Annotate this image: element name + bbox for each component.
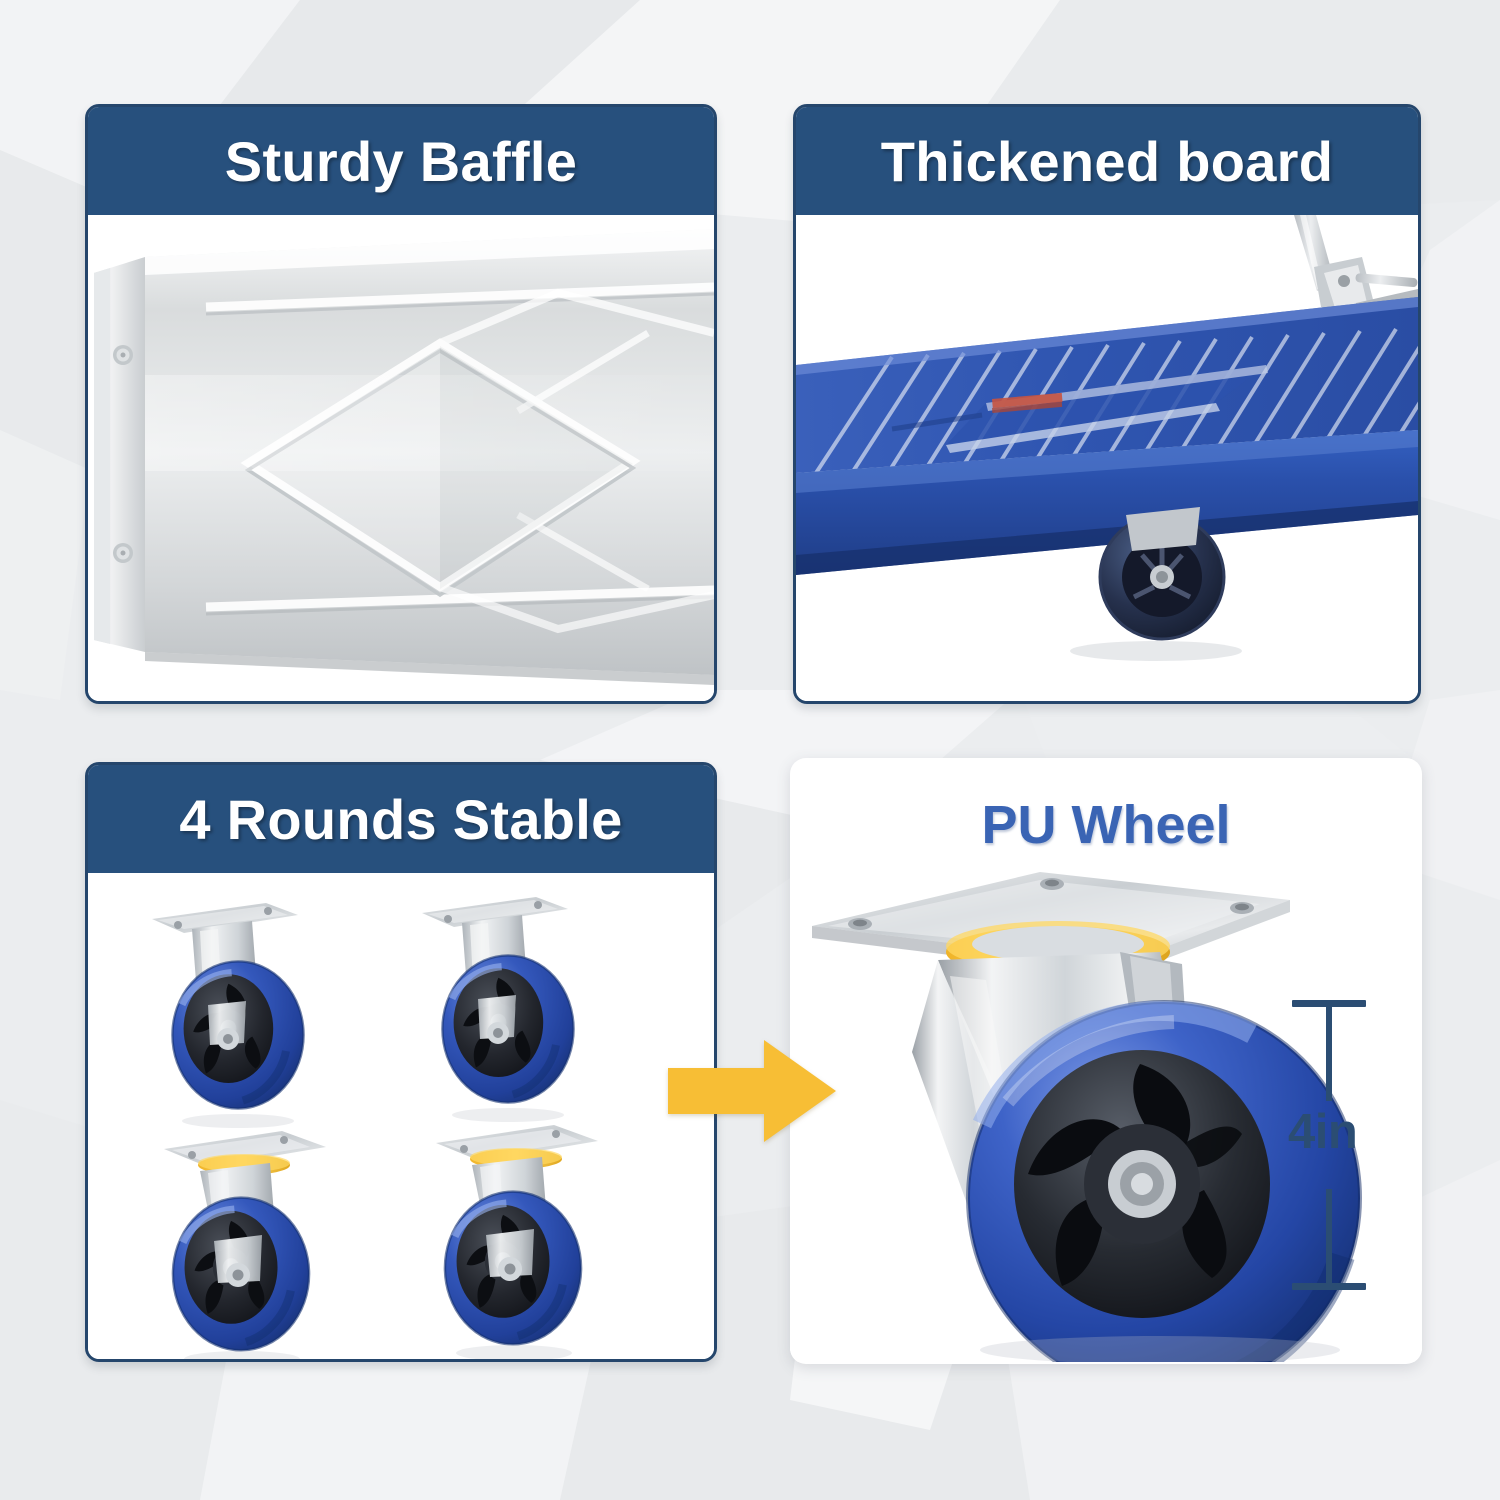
- photo-thickened-board: [796, 215, 1418, 701]
- dimension-label: 4in: [1288, 1108, 1357, 1157]
- baffle-illustration: [88, 215, 714, 701]
- panel-sturdy-baffle: Sturdy Baffle: [85, 104, 717, 704]
- four-casters-illustration: [88, 873, 714, 1359]
- yellow-right-arrow: [668, 1032, 838, 1150]
- panel-title-thickened-board: Thickened board: [881, 129, 1334, 194]
- arrow-shape: [668, 1040, 836, 1142]
- panel-title-sturdy-baffle: Sturdy Baffle: [225, 129, 577, 194]
- panel-thickened-board: Thickened board: [793, 104, 1421, 704]
- dimension-marker-4in: 4in: [1292, 1000, 1412, 1290]
- panel-header-thickened-board: Thickened board: [796, 107, 1418, 215]
- deck-illustration: [796, 215, 1418, 701]
- panel-header-four-rounds-stable: 4 Rounds Stable: [88, 765, 714, 873]
- panel-header-sturdy-baffle: Sturdy Baffle: [88, 107, 714, 215]
- panel-title-pu-wheel: PU Wheel: [790, 758, 1422, 856]
- panel-four-rounds-stable: 4 Rounds Stable: [85, 762, 717, 1362]
- dimension-stem-upper: [1326, 1005, 1332, 1101]
- dimension-cap-bottom: [1292, 1283, 1366, 1290]
- photo-four-casters: [88, 873, 714, 1359]
- panel-title-four-rounds-stable: 4 Rounds Stable: [179, 787, 622, 852]
- photo-sturdy-baffle: [88, 215, 714, 701]
- dimension-stem-lower: [1326, 1189, 1332, 1285]
